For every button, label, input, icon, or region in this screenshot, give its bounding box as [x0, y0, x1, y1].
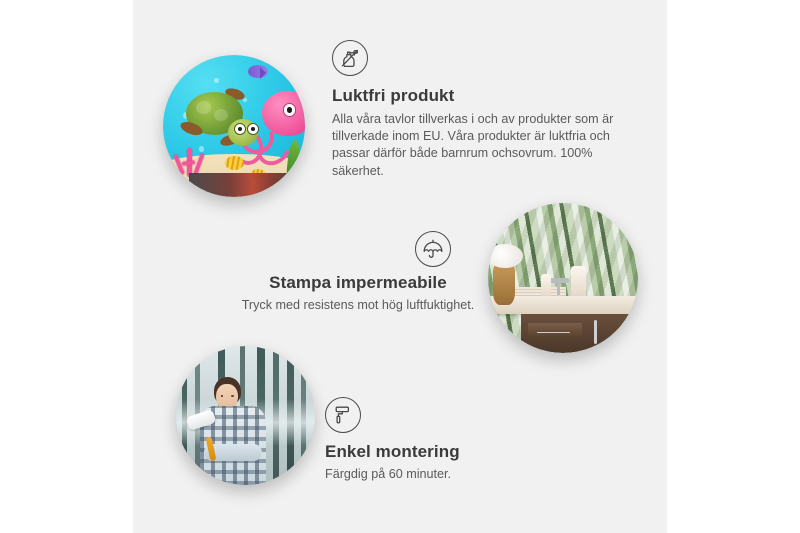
feature-image-waterproof — [488, 203, 638, 353]
yellow-fish-icon — [225, 156, 243, 170]
faucet-icon — [550, 278, 570, 283]
coral-icon — [172, 140, 209, 177]
octopus-eye — [283, 103, 296, 116]
person-photo — [198, 377, 268, 485]
feature-description: Alla våra tavlor tillverkas i och av pro… — [332, 111, 632, 180]
soap-bottle — [541, 274, 552, 298]
paint-roller-icon — [325, 397, 361, 433]
cabinet-handle — [594, 320, 598, 343]
purple-fish-icon — [248, 65, 268, 78]
feature-title: Enkel montering — [325, 442, 585, 462]
turtle-eye — [247, 123, 259, 135]
promo-infographic: Luktfri produkt Alla våra tavlor tillver… — [0, 0, 800, 533]
feature-image-odorless — [163, 55, 305, 197]
no-fragrance-spray-icon — [332, 40, 368, 76]
bubble-icon — [214, 78, 219, 83]
vanity-cabinet — [521, 314, 638, 353]
feature-title: Stampa impermeabile — [208, 273, 508, 293]
feature-description: Färgdig på 60 minuter. — [325, 466, 585, 483]
feature-image-mounting — [176, 346, 315, 485]
feature-waterproof: Stampa impermeabile Tryck med resistens … — [208, 231, 508, 314]
umbrella-icon — [415, 231, 451, 267]
feature-odorless: Luktfri produkt Alla våra tavlor tillver… — [332, 40, 632, 180]
ocean-foreground-band — [189, 173, 305, 197]
soap-bottle — [571, 266, 586, 299]
feature-description: Tryck med resistens mot hög luftfuktighe… — [208, 297, 508, 314]
turtle-eye — [234, 123, 246, 135]
feature-title: Luktfri produkt — [332, 86, 632, 106]
vanity-drawer — [528, 323, 582, 338]
feature-mounting: Enkel montering Färgdig på 60 minuter. — [325, 397, 585, 483]
